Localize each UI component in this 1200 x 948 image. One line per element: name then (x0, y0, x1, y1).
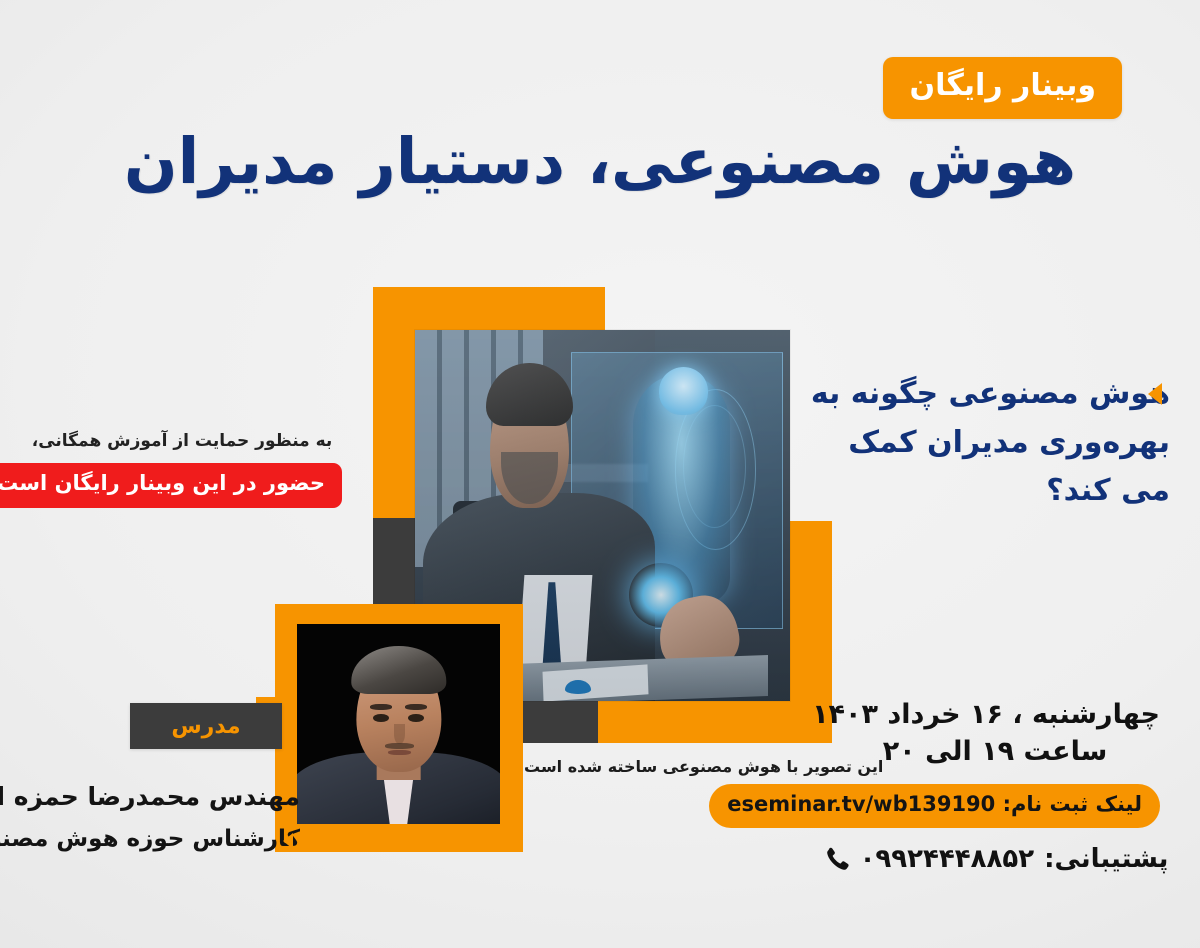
triangle-marker-icon (1148, 383, 1162, 405)
instructor-mouth (388, 750, 410, 755)
registration-link-badge[interactable]: لینک ثبت نام: eseminar.tv/wb139190 (709, 784, 1160, 828)
instructor-portrait-photo (297, 624, 500, 824)
instructor-moustache (385, 743, 413, 749)
triangle-marker-small-icon (283, 833, 293, 849)
instructor-hair (351, 646, 446, 694)
headline-question: هوش مصنوعی چگونه به بهره‌وری مدیران کمک … (810, 370, 1170, 516)
headline-question-text: هوش مصنوعی چگونه به بهره‌وری مدیران کمک … (811, 376, 1170, 508)
instructor-role: کارشناس حوزه هوش مصنوعی (0, 826, 300, 852)
event-time: ساعت ۱۹ الی ۲۰ (830, 734, 1160, 771)
support-phone-row: پشتیبانی: ۰۹۹۲۴۴۴۸۸۵۲ (830, 844, 1160, 874)
event-date: چهارشنبه ، ۱۶ خرداد ۱۴۰۳ (830, 697, 1160, 734)
webinar-poster: وبینار رایگان هوش مصنوعی، دستیار مدیران … (0, 0, 1200, 948)
gray-frame-block-bottom (518, 700, 598, 743)
instructor-eyebrow-right (405, 704, 427, 710)
support-phone-number: ۰۹۹۲۴۴۴۸۸۵۲ (860, 844, 1035, 874)
event-info-block: چهارشنبه ، ۱۶ خرداد ۱۴۰۳ ساعت ۱۹ الی ۲۰ … (830, 697, 1160, 874)
instructor-label: مدرس (130, 703, 282, 749)
support-phone-label: پشتیبانی: (1044, 844, 1168, 874)
registration-link-url[interactable]: eseminar.tv/wb139190 (727, 792, 995, 816)
instructor-nose (394, 724, 404, 744)
instructor-name: مهندس محمدرضا حمزه ای (0, 782, 300, 811)
phone-icon (822, 845, 850, 873)
registration-link-label: لینک ثبت نام: (1003, 792, 1142, 816)
